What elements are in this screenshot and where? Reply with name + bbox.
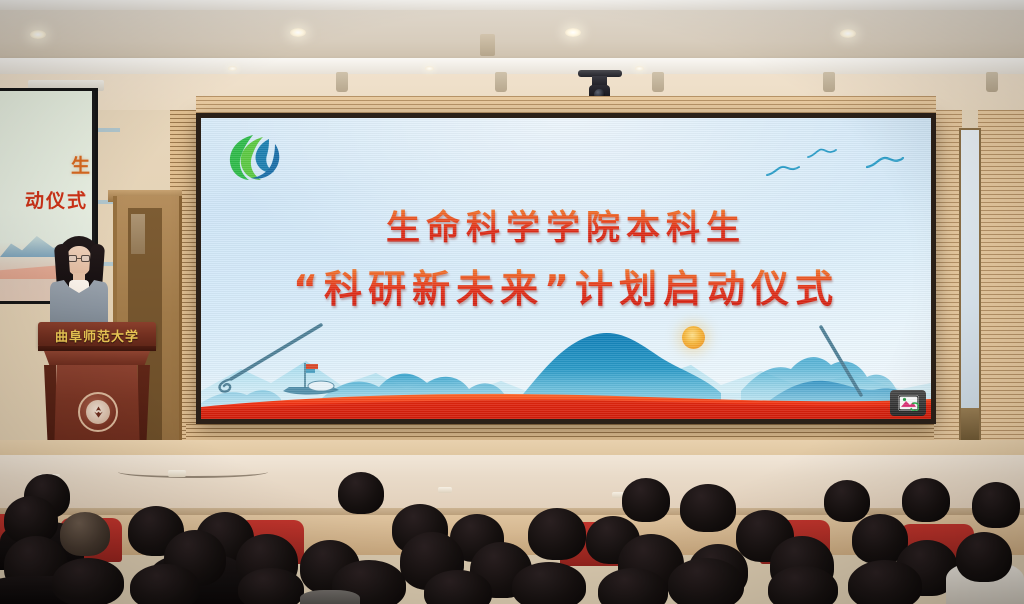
life-science-college-logo <box>223 130 285 188</box>
bird-icon <box>766 164 800 182</box>
downlight <box>30 30 46 39</box>
ceiling-mini-light <box>425 66 434 71</box>
audience-head <box>512 562 586 604</box>
audience-head <box>130 564 200 604</box>
ceiling-top-edge <box>0 0 1024 10</box>
audience-shoulders <box>300 590 360 604</box>
downlight <box>565 28 581 37</box>
red-ribbon-graphic <box>201 389 931 419</box>
downlight <box>840 29 856 38</box>
audience-head <box>52 558 124 604</box>
podium-slant <box>44 351 150 365</box>
bird-icon <box>866 156 904 174</box>
slide-title-line-1: 生命科学学院本科生 <box>201 200 931 249</box>
projected-title-line1: 生 <box>0 151 92 178</box>
audience-head <box>528 508 586 560</box>
audience-head <box>680 484 736 532</box>
audience-head <box>956 532 1012 582</box>
ceiling-speaker <box>480 34 495 56</box>
ceiling-mini-light <box>228 66 237 71</box>
ceiling-speaker <box>652 72 664 92</box>
audience-head <box>972 482 1020 528</box>
screen-source-badge[interactable] <box>890 390 926 416</box>
doorway-glass-panel <box>131 214 145 254</box>
seated-audience <box>0 470 1024 604</box>
projected-title-line2: 动仪式 <box>0 186 88 213</box>
auditorium-scene: Roline 生 动仪式 <box>0 0 1024 604</box>
downlight <box>290 28 306 37</box>
right-window-lower-panel <box>961 408 979 442</box>
presenter-glasses <box>68 255 90 262</box>
university-crest <box>78 392 118 432</box>
led-screen-frame: 生命科学学院本科生 “科研新未来”计划启动仪式 <box>196 113 936 424</box>
audience-head <box>60 512 110 556</box>
podium-top: 曲阜师范大学 <box>38 322 156 348</box>
slat-wall-panel <box>978 110 1024 462</box>
audience-head <box>824 480 870 522</box>
led-screen[interactable]: 生命科学学院本科生 “科研新未来”计划启动仪式 <box>201 118 931 419</box>
ceiling-band <box>0 10 1024 62</box>
ceiling-speaker <box>823 72 835 92</box>
ceiling-speaker <box>336 72 348 92</box>
right-window <box>959 128 981 446</box>
audience-head <box>902 478 950 522</box>
audience-head <box>768 566 838 604</box>
bird-icon <box>807 146 837 164</box>
university-crest-inner <box>86 400 110 424</box>
podium-top-edge <box>38 346 156 351</box>
slat-wall-panel-above-screen <box>196 96 936 114</box>
audience-head <box>338 472 384 514</box>
audience-head <box>622 478 670 522</box>
audience-head <box>668 558 744 604</box>
podium-institution-name: 曲阜师范大学 <box>38 326 156 345</box>
audience-head <box>238 568 304 604</box>
image-refresh-icon <box>898 395 919 411</box>
ceiling-speaker <box>495 72 507 92</box>
ceiling-mini-light <box>635 66 644 71</box>
ceiling-beam <box>0 58 1024 74</box>
audience-head <box>848 560 922 604</box>
ceiling-speaker <box>986 72 998 92</box>
